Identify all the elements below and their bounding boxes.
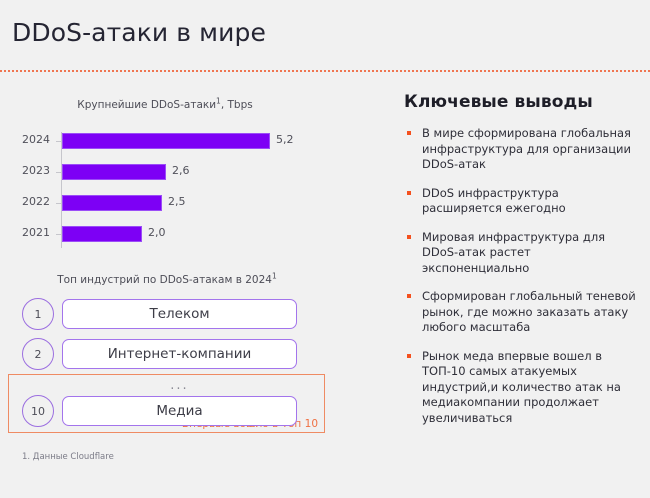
axis-tick [56,172,61,173]
bar-fill-2022 [62,195,162,211]
bar-value-label: 2,0 [148,226,166,239]
rank-badge: 10 [22,395,54,427]
industries-caption: Топ индустрий по DDoS-атакам в 20241 [0,274,334,286]
bar-category-label: 2023 [0,164,50,177]
bar-row: 2022 2,5 [0,192,340,214]
bullet-icon [407,191,411,195]
ellipsis-separator: ... [62,378,297,393]
bar-track [62,195,162,211]
rank-badge: 2 [22,338,54,370]
bar-track [62,164,166,180]
bar-category-label: 2021 [0,226,50,239]
bullet-icon [407,354,411,358]
industry-pill-media[interactable]: Медиа [62,396,297,426]
bar-track [62,133,270,149]
insight-text: DDoS инфраструктура расширяется ежегодно [422,186,566,216]
page-title: DDoS-атаки в мире [12,18,266,47]
insight-text: Рынок меда впервые вошел в ТОП-10 самых … [422,349,621,425]
insight-item: Рынок меда впервые вошел в ТОП-10 самых … [404,349,640,427]
right-column: Ключевые выводы В мире сформирована глоб… [404,92,640,439]
bar-category-label: 2022 [0,195,50,208]
left-column: Крупнейшие DDoS-атаки1, Tbps 2024 5,2 20… [0,86,350,486]
insight-item: В мире сформирована глобальная инфрастру… [404,126,640,173]
title-divider [0,70,650,72]
insight-text: В мире сформирована глобальная инфрастру… [422,126,631,171]
bar-chart-caption: Крупнейшие DDoS-атаки1, Tbps [0,99,330,111]
industry-pill-internet[interactable]: Интернет-компании [62,339,297,369]
axis-tick [56,234,61,235]
bar-value-label: 2,5 [168,195,186,208]
bar-row: 2024 5,2 [0,130,340,152]
insight-text: Мировая инфраструктура для DDoS-атак рас… [422,230,605,275]
insight-item: Мировая инфраструктура для DDoS-атак рас… [404,230,640,277]
bar-chart-caption-text: Крупнейшие DDoS-атаки [77,99,216,111]
insight-text: Сформирован глобальный теневой рынок, гд… [422,289,636,334]
list-item[interactable]: 2 Интернет-компании [0,338,340,372]
rank-badge: 1 [22,298,54,330]
footnote: 1. Данные Cloudflare [22,452,114,462]
bar-fill-2023 [62,164,166,180]
insight-item: DDoS инфраструктура расширяется ежегодно [404,186,640,217]
bar-track [62,226,142,242]
bar-value-label: 5,2 [276,133,294,146]
industry-pill-telecom[interactable]: Телеком [62,299,297,329]
axis-tick [56,203,61,204]
industries-caption-superscript: 1 [272,272,277,281]
bar-category-label: 2024 [0,133,50,146]
bar-row: 2023 2,6 [0,161,340,183]
insights-heading: Ключевые выводы [404,92,640,112]
bar-row: 2021 2,0 [0,223,340,245]
bar-chart: 2024 5,2 2023 2,6 2022 2,5 2021 [0,130,340,250]
list-item[interactable]: 10 Медиа [0,395,340,429]
axis-tick [56,141,61,142]
bullet-icon [407,131,411,135]
bar-value-label: 2,6 [172,164,190,177]
bar-fill-2024 [62,133,270,149]
bar-fill-2021 [62,226,142,242]
bar-chart-caption-unit: , Tbps [221,99,253,111]
bullet-icon [407,235,411,239]
bullet-icon [407,294,411,298]
insight-item: Сформирован глобальный теневой рынок, гд… [404,289,640,336]
list-item[interactable]: 1 Телеком [0,298,340,332]
industries-caption-text: Топ индустрий по DDoS-атакам в 2024 [57,274,272,286]
